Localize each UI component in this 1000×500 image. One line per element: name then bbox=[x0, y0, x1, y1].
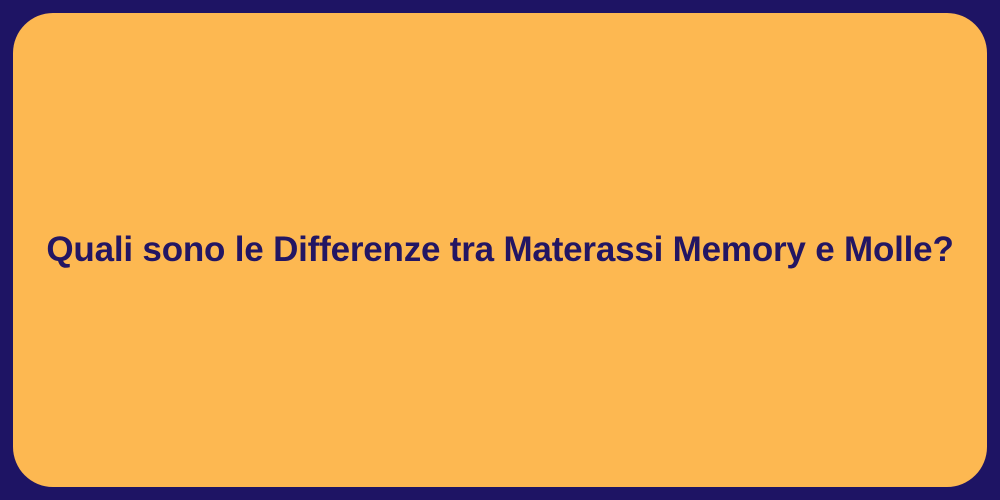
banner-panel: Quali sono le Differenze tra Materassi M… bbox=[13, 13, 987, 487]
page-title: Quali sono le Differenze tra Materassi M… bbox=[13, 228, 987, 272]
banner-root: Quali sono le Differenze tra Materassi M… bbox=[0, 0, 1000, 500]
